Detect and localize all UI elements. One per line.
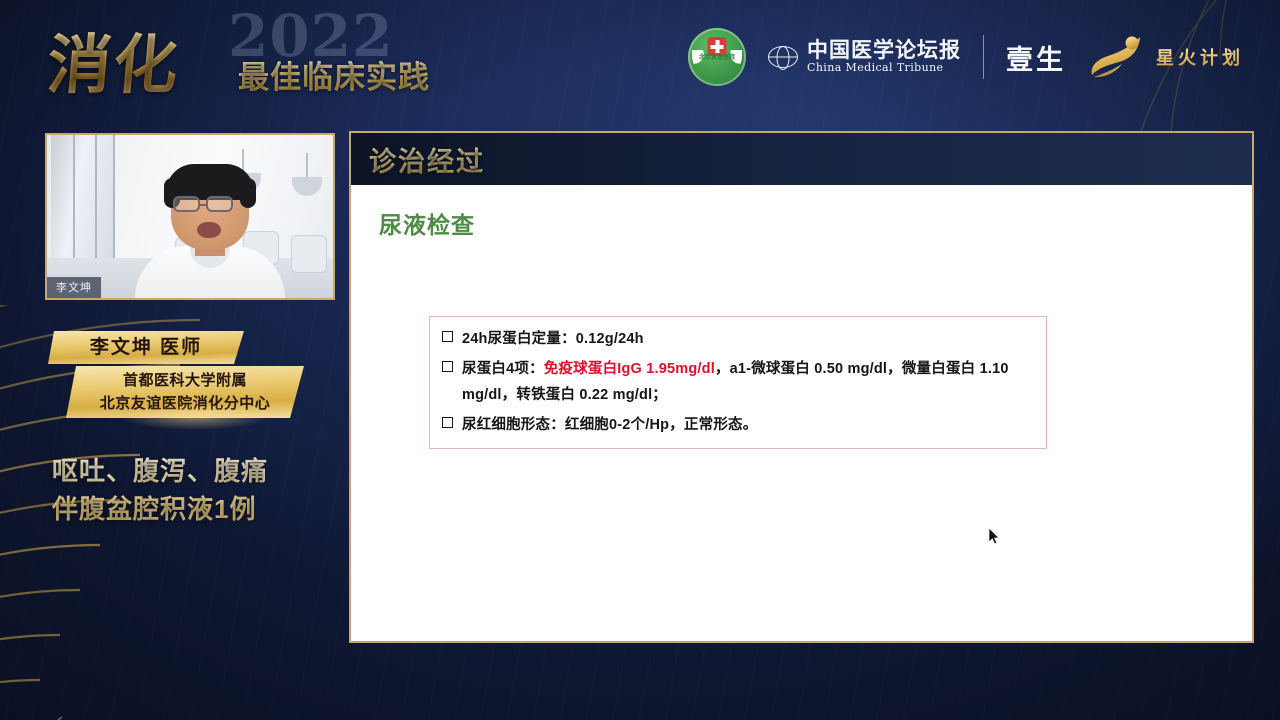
- event-title-main: 消化: [44, 14, 184, 106]
- hospital-logo-label: 北京友谊医院: [688, 55, 746, 62]
- bullet-text-segment: 尿红细胞形态：红细胞0-2个/Hp，正常形态。: [462, 417, 757, 433]
- section-heading: 尿液检查: [379, 206, 475, 240]
- sponsor-logos: 北京友谊医院 中国医学论坛报 China Medical Tribune 壹生: [688, 18, 1244, 96]
- event-title-block: 2022 消化 最佳临床实践: [48, 8, 468, 108]
- speaker-name-ribbon: 李文坤 医师: [48, 331, 244, 364]
- slide-body: 尿液检查 24h尿蛋白定量：0.12g/24h尿蛋白4项：免疫球蛋白IgG 1.…: [351, 185, 1252, 641]
- finding-bullet-text: 尿蛋白4项：免疫球蛋白IgG 1.95mg/dl，a1-微球蛋白 0.50 mg…: [462, 356, 1034, 408]
- chair-decor: [291, 235, 327, 273]
- china-medical-tribune-logo: 中国医学论坛报 China Medical Tribune: [768, 39, 961, 75]
- topic-line-2: 伴腹盆腔积液1例: [52, 490, 352, 528]
- mouse-cursor: [989, 528, 1001, 546]
- bullet-text-segment: 尿蛋白4项：: [462, 361, 544, 377]
- finding-bullet-row: 尿蛋白4项：免疫球蛋白IgG 1.95mg/dl，a1-微球蛋白 0.50 mg…: [440, 356, 1034, 408]
- topic-line-1: 呕吐、腹泻、腹痛: [52, 452, 352, 490]
- findings-box: 24h尿蛋白定量：0.12g/24h尿蛋白4项：免疫球蛋白IgG 1.95mg/…: [429, 316, 1047, 449]
- finding-bullet-text: 尿红细胞形态：红细胞0-2个/Hp，正常形态。: [462, 412, 757, 438]
- tribune-text-block: 中国医学论坛报 China Medical Tribune: [807, 39, 961, 75]
- slide-title: 诊治经过: [369, 140, 485, 179]
- highlighted-value: 免疫球蛋白IgG 1.95mg/dl: [544, 361, 715, 377]
- eyeglasses-icon: [206, 196, 233, 212]
- logo-divider: [983, 35, 984, 79]
- tribune-name-cn: 中国医学论坛报: [807, 39, 961, 61]
- finding-bullet-text: 24h尿蛋白定量：0.12g/24h: [462, 326, 644, 352]
- pendant-lamp-icon: [292, 177, 322, 196]
- speaker-video-thumbnail[interactable]: 李文坤: [45, 133, 335, 300]
- spark-program-label: 星火计划: [1156, 44, 1244, 70]
- yisheng-logo-label: 壹生: [1006, 38, 1066, 77]
- finding-bullet-row: 尿红细胞形态：红细胞0-2个/Hp，正常形态。: [440, 412, 1034, 438]
- speaker-mouth: [197, 222, 221, 238]
- presentation-topic: 呕吐、腹泻、腹痛 伴腹盆腔积液1例: [52, 452, 352, 528]
- square-bullet-icon: [442, 331, 453, 342]
- eyeglasses-bridge: [200, 204, 208, 206]
- bullet-text-segment: 24h尿蛋白定量：0.12g/24h: [462, 331, 644, 347]
- event-banner: 2022 消化 最佳临床实践 北京友谊医院 中国医学论坛报 China Medi…: [0, 0, 1280, 118]
- finding-bullet-row: 24h尿蛋白定量：0.12g/24h: [440, 326, 1034, 352]
- square-bullet-icon: [442, 361, 453, 372]
- speaker-affiliation-ribbon: 首都医科大学附属 北京友谊医院消化分中心: [66, 366, 304, 418]
- window-decor: [51, 135, 115, 277]
- affiliation-line-2: 北京友谊医院消化分中心: [66, 392, 304, 415]
- speaker-hair: [166, 164, 254, 200]
- speaker-figure: [135, 170, 285, 298]
- eyeglasses-icon: [173, 196, 200, 212]
- square-bullet-icon: [442, 417, 453, 428]
- tribune-name-en: China Medical Tribune: [807, 61, 961, 75]
- affiliation-line-1: 首都医科大学附属: [66, 369, 304, 392]
- slide-header-bar: 诊治经过: [351, 133, 1252, 185]
- video-name-label: 李文坤: [47, 277, 101, 298]
- presentation-stage: 2022 消化 最佳临床实践 北京友谊医院 中国医学论坛报 China Medi…: [0, 0, 1280, 720]
- flying-figure-icon: [1088, 34, 1146, 80]
- globe-icon: [768, 46, 798, 68]
- slide-frame: 诊治经过 尿液检查 24h尿蛋白定量：0.12g/24h尿蛋白4项：免疫球蛋白I…: [349, 131, 1254, 643]
- hospital-logo-icon: 北京友谊医院: [688, 28, 746, 86]
- event-title-sub: 最佳临床实践: [238, 52, 430, 97]
- spark-program-logo: 星火计划: [1088, 34, 1244, 80]
